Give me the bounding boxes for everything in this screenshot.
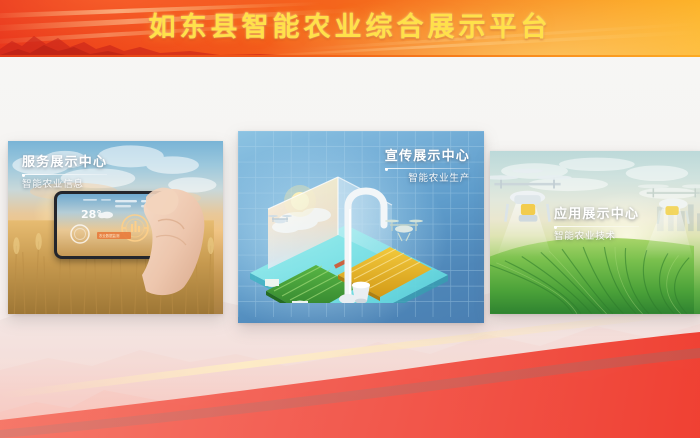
isometric-illustration xyxy=(242,165,464,303)
header-bottom-rule xyxy=(0,55,700,57)
app-root: 如东县智能农业综合展示平台 xyxy=(0,0,700,438)
card-application-caption: 应用展示中心 智能农业技术 xyxy=(554,207,639,243)
page-title: 如东县智能农业综合展示平台 xyxy=(0,9,700,47)
card-promotion-title: 宣传展示中心 xyxy=(385,149,470,165)
card-application-rule xyxy=(554,226,639,227)
human-hand xyxy=(140,175,223,297)
card-promotion-rule xyxy=(385,168,470,169)
card-promotion-caption: 宣传展示中心 智能农业生产 xyxy=(385,149,470,185)
header-banner: 如东县智能农业综合展示平台 xyxy=(0,0,700,57)
card-service-subtitle: 智能农业信息 xyxy=(22,178,107,191)
svg-text:农业数据监测: 农业数据监测 xyxy=(99,233,120,238)
card-application-subtitle: 智能农业技术 xyxy=(554,230,639,243)
card-application-display-center[interactable]: 应用展示中心 智能农业技术 xyxy=(490,151,700,314)
card-service-caption: 服务展示中心 智能农业信息 xyxy=(22,155,107,191)
card-service-title: 服务展示中心 xyxy=(22,155,107,171)
card-promotion-subtitle: 智能农业生产 xyxy=(385,172,470,185)
card-service-display-center[interactable]: 28° xyxy=(8,141,223,314)
card-service-rule xyxy=(22,174,107,175)
card-application-title: 应用展示中心 xyxy=(554,207,639,223)
card-promotion-display-center[interactable]: 宣传展示中心 智能农业生产 xyxy=(238,131,484,323)
